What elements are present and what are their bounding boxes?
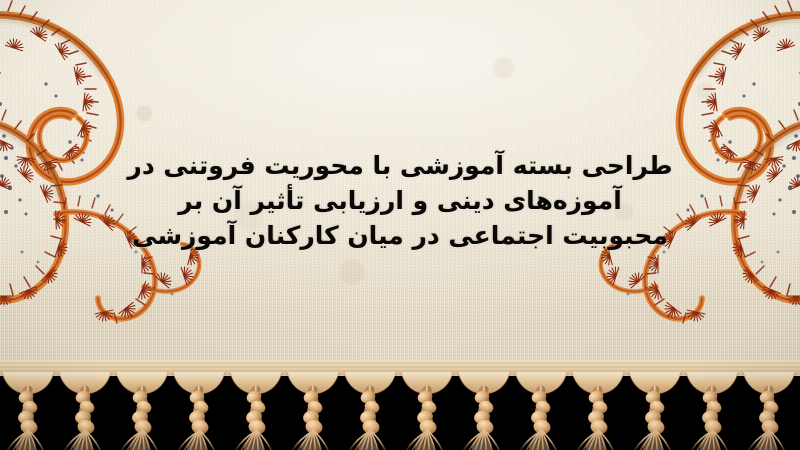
title-line-2: آموزه‌های دینی و ارزیابی تأثیر آن بر [0,183,800,218]
title-line-1: طراحی بسته آموزشی با محوریت فروتنی در [0,148,800,183]
article-title: طراحی بسته آموزشی با محوریت فروتنی در آم… [0,148,800,253]
title-line-3: محبوبیت اجتماعی در میان کارکنان آموزشی [0,218,800,253]
tassel-fringe [0,360,800,450]
title-card: طراحی بسته آموزشی با محوریت فروتنی در آم… [0,0,800,450]
